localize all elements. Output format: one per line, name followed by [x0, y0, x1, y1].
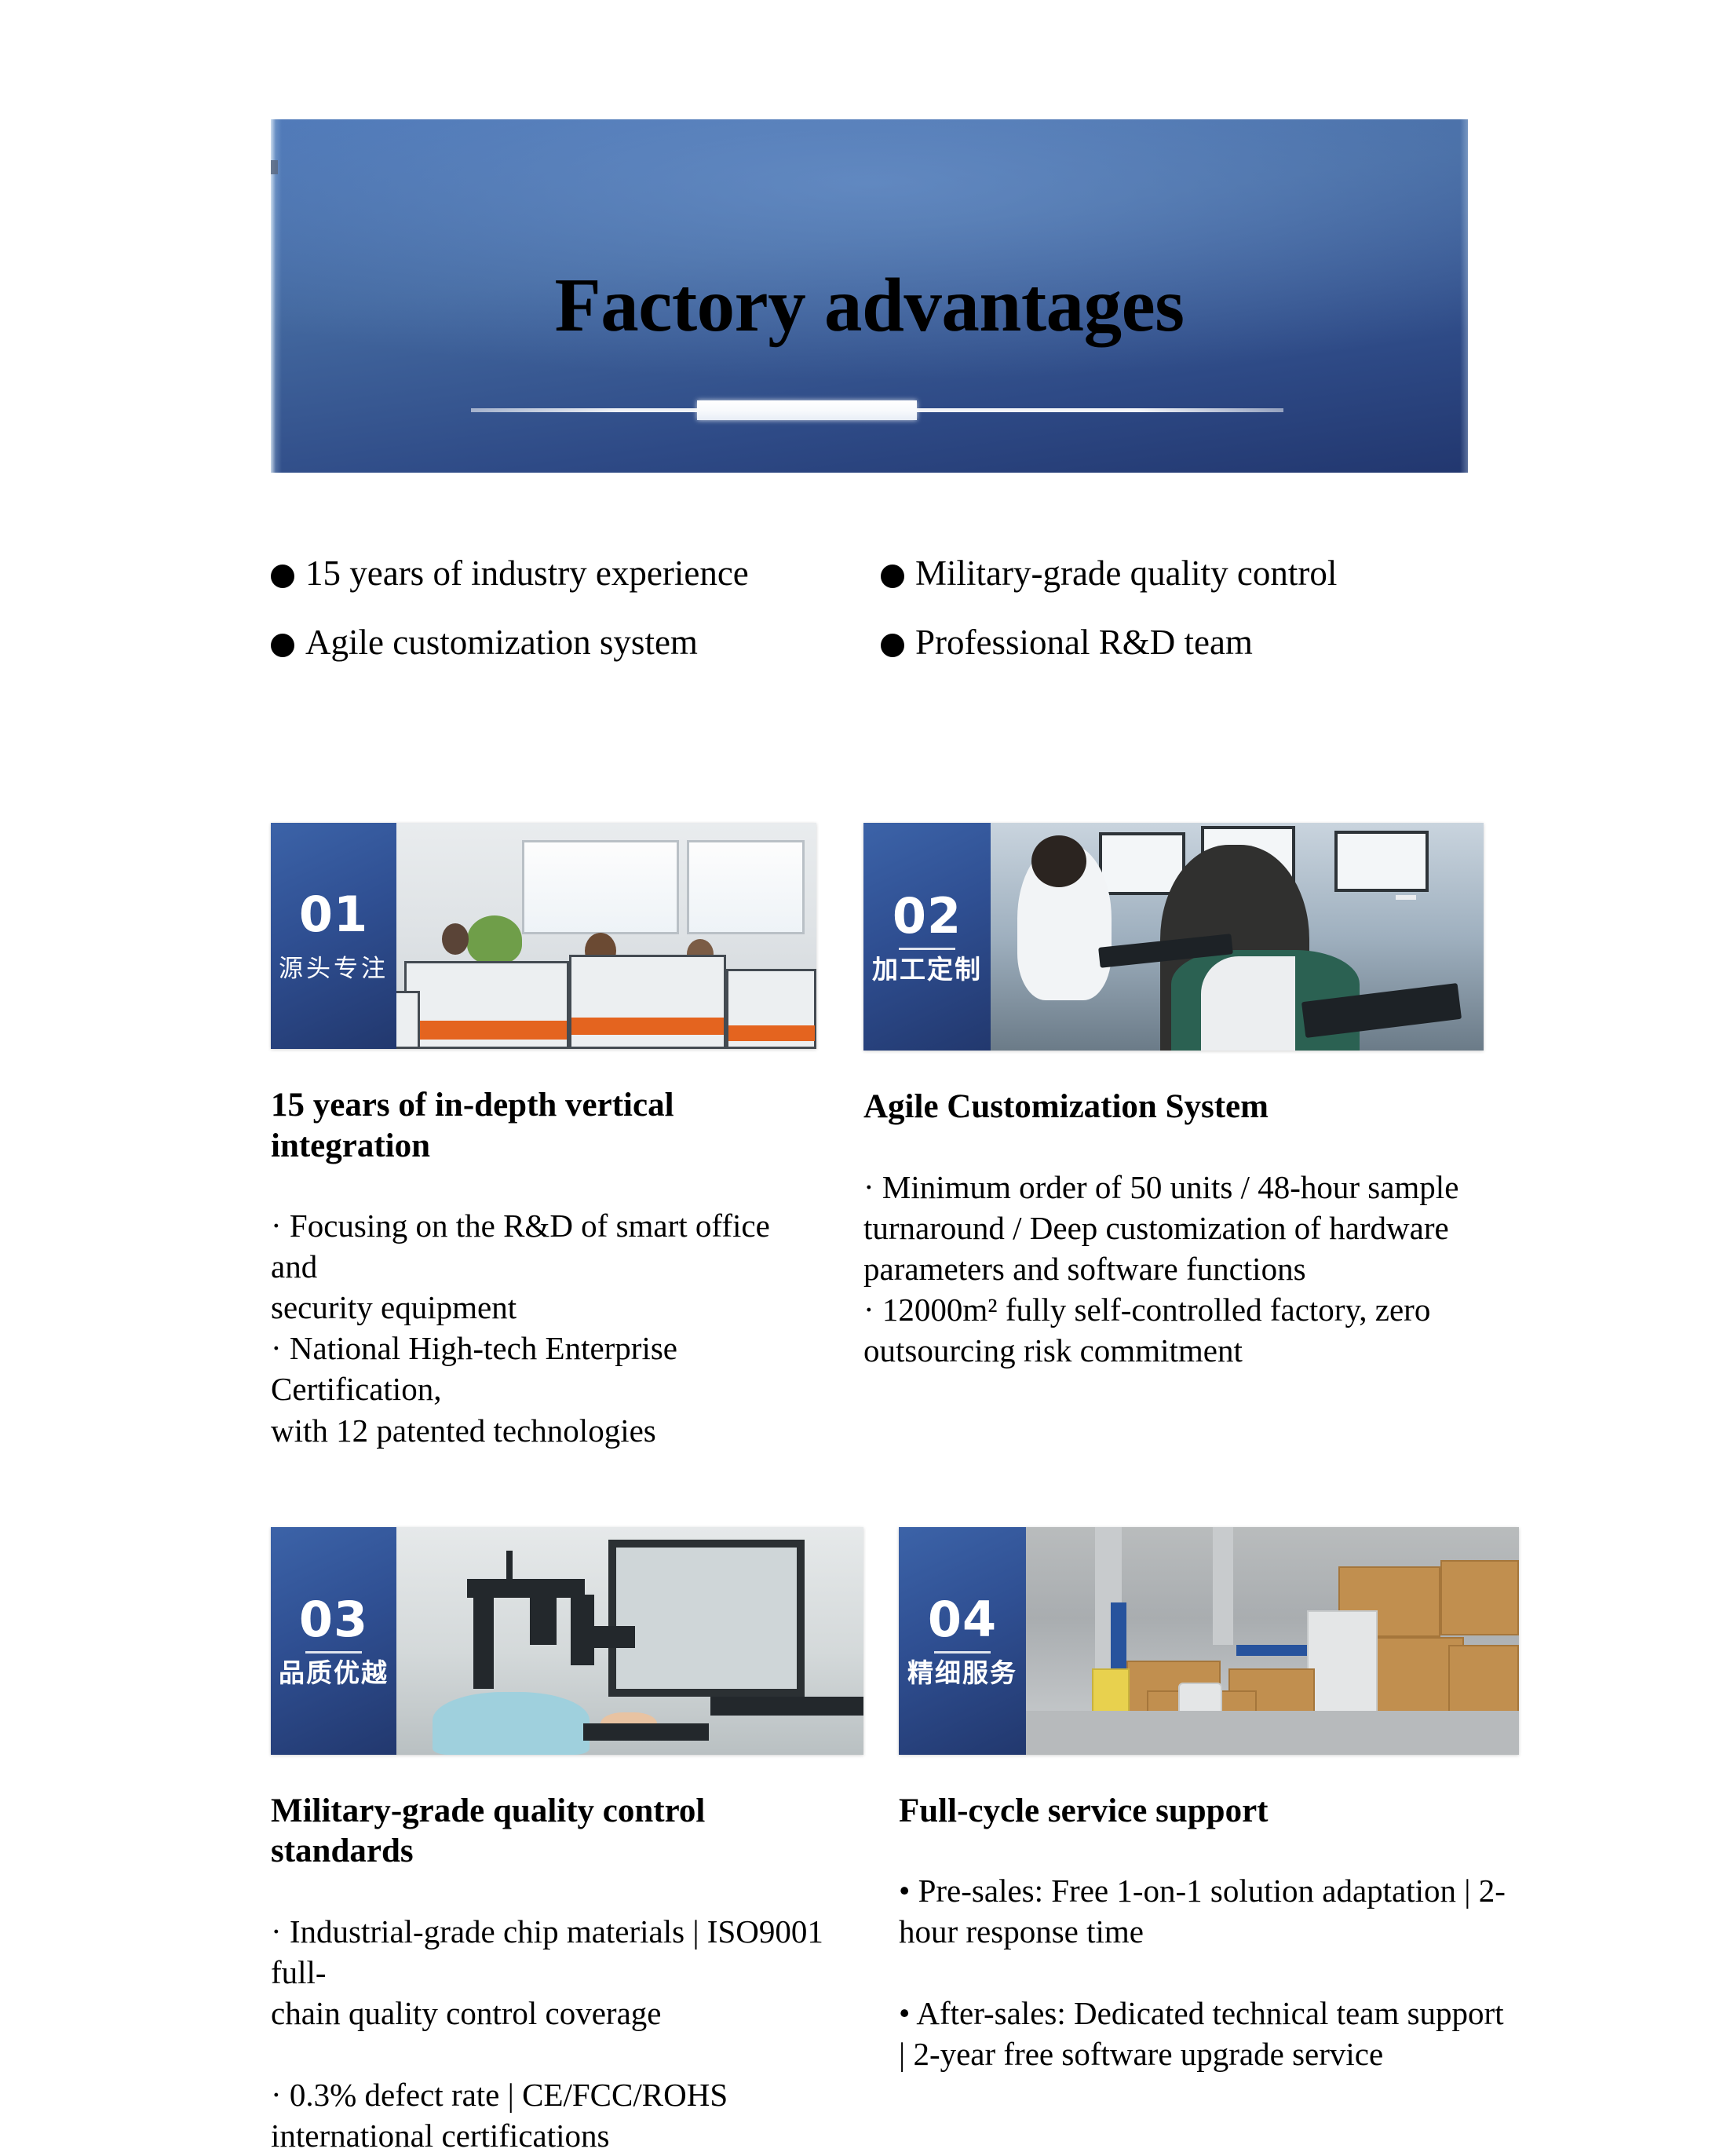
card-line: international certifications	[271, 2115, 856, 2156]
card-line: turnaround / Deep customization of hardw…	[863, 1208, 1484, 1248]
highlights-row: Agile customization system Professional …	[271, 623, 1480, 662]
card-number: 04	[928, 1595, 997, 1644]
card-title: 15 years of in-depth vertical integratio…	[271, 1085, 820, 1166]
advantage-cards-grid: 01 源头专注 15 years of in-depth vertical in…	[271, 823, 1484, 2156]
card-line: outsourcing risk commitment	[863, 1330, 1484, 1371]
card-line: • After-sales: Dedicated technical team …	[899, 1993, 1519, 2034]
card-line: · 12000m² fully self-controlled factory,…	[863, 1289, 1484, 1330]
card-number: 03	[299, 1595, 368, 1644]
bullet-dot-icon	[881, 634, 904, 657]
highlight-label: Professional R&D team	[915, 623, 1253, 662]
highlights-row: 15 years of industry experience Military…	[271, 554, 1480, 593]
banner-notch-marker	[271, 160, 278, 174]
card-line: · Focusing on the R&D of smart office an…	[271, 1205, 820, 1287]
card-number-rule	[899, 948, 955, 950]
card-line: · Minimum order of 50 units / 48-hour sa…	[863, 1167, 1484, 1208]
highlight-item-3: Agile customization system	[271, 623, 856, 662]
advantage-card-03: 03 品质优越 Military-grade quality control s…	[271, 1527, 856, 2156]
highlight-item-4: Professional R&D team	[856, 623, 1440, 662]
card-title: Military-grade quality control standards	[271, 1791, 856, 1872]
card-line: · Industrial-grade chip materials | ISO9…	[271, 1911, 856, 1993]
highlight-label: 15 years of industry experience	[305, 554, 749, 593]
card-body: • Pre-sales: Free 1-on-1 solution adapta…	[899, 1870, 1519, 2074]
highlight-label: Agile customization system	[305, 623, 698, 662]
card-line: · 0.3% defect rate | CE/FCC/ROHS	[271, 2074, 856, 2115]
card-line: | 2-year free software upgrade service	[899, 2034, 1519, 2074]
card-badge-cn: 品质优越	[279, 1660, 389, 1686]
bullet-dot-icon	[271, 634, 294, 657]
card-body: · Focusing on the R&D of smart office an…	[271, 1205, 820, 1450]
highlight-label: Military-grade quality control	[915, 554, 1337, 593]
card-number-rule	[934, 1651, 991, 1654]
card-title: Agile Customization System	[863, 1087, 1484, 1127]
card-photo-workstations: 02 加工定制	[863, 823, 1484, 1051]
card-line: hour response time	[899, 1911, 1519, 1952]
card-number-rule	[305, 1651, 362, 1654]
highlight-item-1: 15 years of industry experience	[271, 554, 856, 593]
card-number-panel: 04 精细服务	[899, 1527, 1026, 1755]
card-badge-cn: 加工定制	[872, 956, 982, 982]
page-title: Factory advantages	[271, 267, 1468, 343]
card-number: 01	[299, 890, 368, 939]
banner-divider-highlight	[697, 400, 917, 420]
advantage-card-02: 02 加工定制 Agile Customization System · Min…	[863, 823, 1484, 1451]
card-number-panel: 01 源头专注	[271, 823, 396, 1049]
card-line: parameters and software functions	[863, 1248, 1484, 1289]
highlights-list: 15 years of industry experience Military…	[271, 554, 1480, 663]
card-body: · Minimum order of 50 units / 48-hour sa…	[863, 1167, 1484, 1371]
card-line: security equipment	[271, 1287, 820, 1328]
banner-divider	[271, 398, 1468, 422]
cards-row-1: 01 源头专注 15 years of in-depth vertical in…	[271, 823, 1484, 1451]
card-body: · Industrial-grade chip materials | ISO9…	[271, 1911, 856, 2156]
bullet-dot-icon	[881, 565, 904, 588]
card-line: with 12 patented technologies	[271, 1410, 820, 1451]
card-photo-office: 01 源头专注	[271, 823, 816, 1049]
card-line: chain quality control coverage	[271, 1993, 856, 2034]
highlight-item-2: Military-grade quality control	[856, 554, 1440, 593]
card-badge-cn: 精细服务	[907, 1660, 1017, 1686]
card-photo-warehouse: 04 精细服务	[899, 1527, 1519, 1755]
card-line: • Pre-sales: Free 1-on-1 solution adapta…	[899, 1870, 1519, 1911]
page-banner: Factory advantages	[271, 119, 1468, 473]
bullet-dot-icon	[271, 565, 294, 588]
card-line: · National High-tech Enterprise Certific…	[271, 1328, 820, 1409]
cards-row-2: 03 品质优越 Military-grade quality control s…	[271, 1527, 1484, 2156]
card-photo-lab: 03 品质优越	[271, 1527, 863, 1755]
advantage-card-01: 01 源头专注 15 years of in-depth vertical in…	[271, 823, 820, 1451]
card-number-panel: 02 加工定制	[863, 823, 991, 1051]
card-title: Full-cycle service support	[899, 1791, 1519, 1832]
card-number: 02	[893, 892, 962, 941]
card-badge-cn: 源头专注	[279, 957, 389, 981]
card-number-panel: 03 品质优越	[271, 1527, 396, 1755]
advantage-card-04: 04 精细服务 Full-cycle service support • Pre…	[899, 1527, 1519, 2156]
